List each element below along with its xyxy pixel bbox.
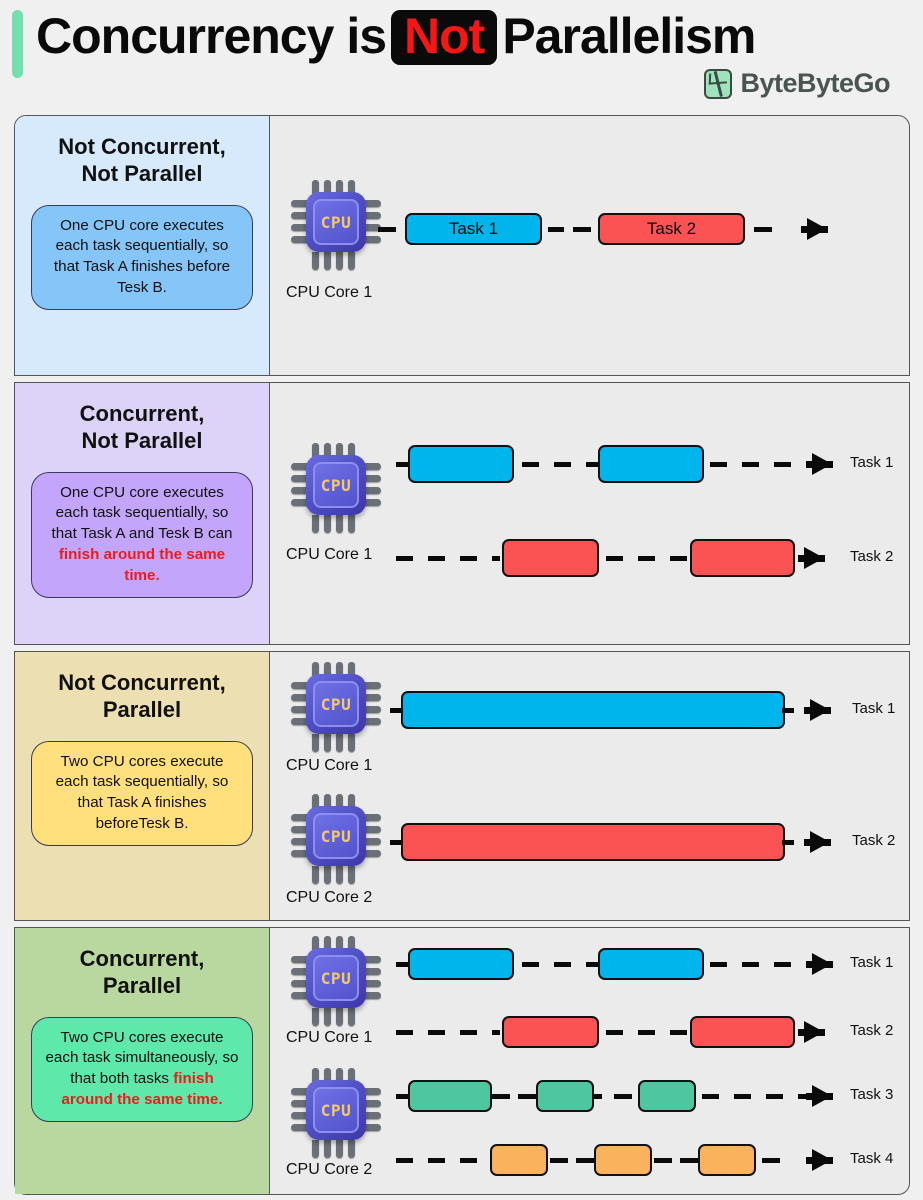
task-box[interactable] <box>690 539 795 577</box>
dash-segment <box>614 1094 632 1099</box>
arrow-icon <box>807 218 827 240</box>
header: Concurrency isNotParallelism ByteByteGo <box>0 0 923 112</box>
dash-run <box>710 962 810 967</box>
task-box[interactable] <box>698 1144 756 1176</box>
arrow-icon <box>810 699 830 721</box>
task-box[interactable] <box>598 948 704 980</box>
timeline-row: Task 1 Task 2 <box>270 209 910 249</box>
dash-run <box>710 462 810 467</box>
bytebytego-leaf-icon <box>704 69 732 99</box>
dash-segment <box>754 227 772 232</box>
dash-segment <box>654 1158 672 1163</box>
task-box[interactable] <box>502 1016 599 1048</box>
panel-2-note-highlight: finish around the same time. <box>59 546 225 584</box>
panel-3-left: Not Concurrent, Parallel Two CPU cores e… <box>15 652 270 920</box>
task-box[interactable]: Task 2 <box>598 213 745 245</box>
task-box[interactable] <box>598 445 704 483</box>
infographic-page: Concurrency isNotParallelism ByteByteGo … <box>0 0 923 1200</box>
dash-segment <box>518 1094 536 1099</box>
panel-concurrent-parallel: Concurrent, Parallel Two CPU cores execu… <box>14 927 910 1195</box>
cpu-core-label: CPU Core 1 <box>286 757 372 775</box>
panel-4-left: Concurrent, Parallel Two CPU cores execu… <box>15 928 270 1194</box>
dash-segment <box>782 708 794 713</box>
panel-3-heading: Not Concurrent, Parallel <box>58 670 225 724</box>
task-box[interactable] <box>502 539 599 577</box>
brand-name: ByteByteGo <box>740 68 890 99</box>
arrow-icon <box>812 1085 832 1107</box>
arrow-icon <box>812 453 832 475</box>
dash-segment <box>548 227 564 232</box>
panel-3-diagram: CPU CPU Core 1 CPU CPU Core 2 Task <box>270 652 909 920</box>
timeline-row: Task 1 <box>270 690 910 730</box>
panel-2-heading: Concurrent, Not Parallel <box>80 401 205 455</box>
row-label: Task 2 <box>852 832 895 849</box>
arrow-icon <box>812 953 832 975</box>
task-box[interactable]: Task 1 <box>405 213 542 245</box>
panel-1-diagram: CPU CPU Core 1 Task 1 Task 2 <box>270 116 909 375</box>
panel-2-note: One CPU core executes each task sequenti… <box>31 472 253 598</box>
row-label: Task 3 <box>850 1086 893 1103</box>
timeline-row: Task 2 <box>270 538 910 578</box>
dash-run <box>396 556 500 561</box>
row-label: Task 1 <box>850 454 893 471</box>
timeline-row: Task 4 <box>270 1140 910 1180</box>
dash-run <box>702 1094 810 1099</box>
panel-not-concurrent-parallel: Not Concurrent, Parallel Two CPU cores e… <box>14 651 910 921</box>
dash-run <box>522 962 602 967</box>
panel-2-note-plain: One CPU core executes each task sequenti… <box>52 484 233 543</box>
panel-2-diagram: CPU CPU Core 1 Task 1 Task 2 <box>270 383 909 644</box>
dash-segment <box>782 840 794 845</box>
dash-run <box>396 1158 488 1163</box>
task-box[interactable] <box>408 1080 492 1112</box>
task-box[interactable] <box>401 691 785 729</box>
arrow-icon <box>804 1021 824 1043</box>
panel-4-note: Two CPU cores execute each task simultan… <box>31 1017 253 1122</box>
panel-3-note-plain: Two CPU cores execute each task sequenti… <box>56 753 229 832</box>
dash-run <box>396 1030 500 1035</box>
panel-1-note: One CPU core executes each task sequenti… <box>31 205 253 310</box>
arrow-icon <box>804 547 824 569</box>
task-box[interactable] <box>408 948 514 980</box>
task-box[interactable] <box>638 1080 696 1112</box>
row-label: Task 1 <box>852 700 895 717</box>
panel-concurrent-not-parallel: Concurrent, Not Parallel One CPU core ex… <box>14 382 910 645</box>
task-box[interactable] <box>690 1016 795 1048</box>
dash-segment <box>576 1158 594 1163</box>
dash-segment <box>550 1158 568 1163</box>
cpu-core-label: CPU Core 2 <box>286 889 372 907</box>
dash-segment <box>680 1158 698 1163</box>
timeline-row: Task 1 <box>270 444 910 484</box>
task-box[interactable] <box>490 1144 548 1176</box>
panel-4-diagram: CPU CPU Core 1 CPU CPU Core 2 <box>270 928 909 1194</box>
cpu-core-label: CPU Core 1 <box>286 284 372 302</box>
dash-segment <box>594 1094 602 1099</box>
panel-1-left: Not Concurrent, Not Parallel One CPU cor… <box>15 116 270 375</box>
panel-3-note: Two CPU cores execute each task sequenti… <box>31 741 253 846</box>
title-not-badge: Not <box>391 10 497 65</box>
brand-logo: ByteByteGo <box>704 68 890 99</box>
title-part-1: Concurrency is <box>36 8 386 64</box>
panel-1-note-plain: One CPU core executes each task sequenti… <box>54 217 230 296</box>
task-box[interactable] <box>408 445 514 483</box>
timeline-row: Task 2 <box>270 822 910 862</box>
panel-1-heading: Not Concurrent, Not Parallel <box>58 134 225 188</box>
row-label: Task 2 <box>850 548 893 565</box>
row-label: Task 2 <box>850 1022 893 1039</box>
dash-segment <box>762 1158 780 1163</box>
panel-4-heading: Concurrent, Parallel <box>80 946 205 1000</box>
accent-bar <box>12 10 23 78</box>
dash-segment <box>492 1094 510 1099</box>
dash-run <box>606 556 688 561</box>
row-label: Task 4 <box>850 1150 893 1167</box>
panel-not-concurrent-not-parallel: Not Concurrent, Not Parallel One CPU cor… <box>14 115 910 376</box>
timeline-row: Task 2 <box>270 1012 910 1052</box>
dash-run <box>606 1030 688 1035</box>
dash-segment <box>573 227 591 232</box>
row-label: Task 1 <box>850 954 893 971</box>
arrow-icon <box>810 831 830 853</box>
title-part-2: Parallelism <box>502 8 755 64</box>
timeline-row: Task 3 <box>270 1076 910 1116</box>
arrow-icon <box>812 1149 832 1171</box>
task-box[interactable] <box>594 1144 652 1176</box>
task-box[interactable] <box>401 823 785 861</box>
dash-segment <box>378 227 396 232</box>
page-title: Concurrency isNotParallelism <box>36 7 755 65</box>
timeline-row: Task 1 <box>270 944 910 984</box>
dash-run <box>522 462 602 467</box>
task-box[interactable] <box>536 1080 594 1112</box>
panel-2-left: Concurrent, Not Parallel One CPU core ex… <box>15 383 270 644</box>
